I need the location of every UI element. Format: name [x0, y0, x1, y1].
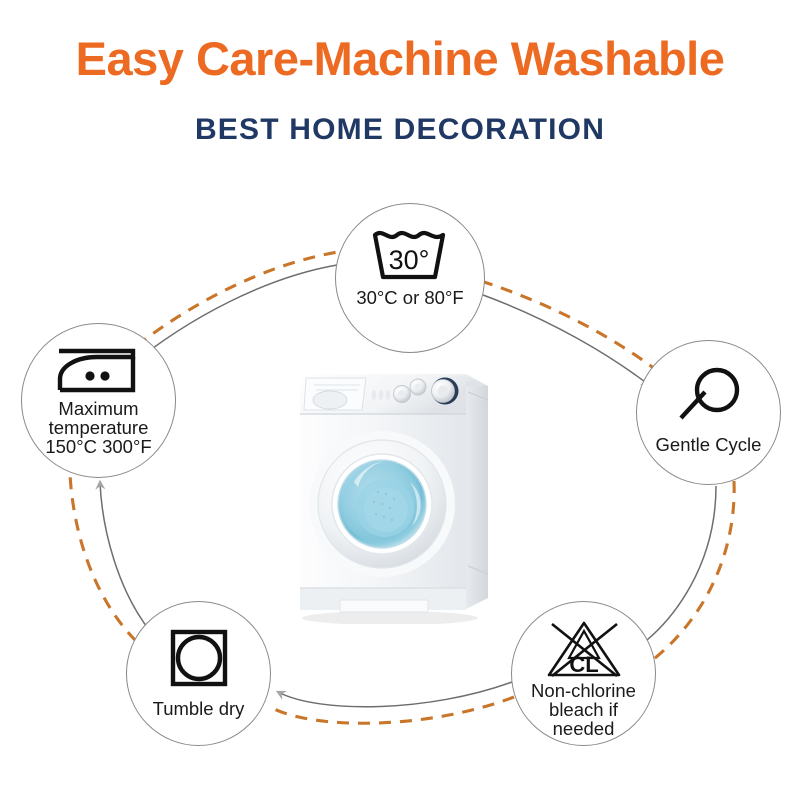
care-node-gentle-cycle[interactable]: Gentle Cycle [636, 340, 781, 485]
care-node-iron[interactable]: Maximum temperature 150°C 300°F [21, 323, 176, 478]
care-node-iron-label: Maximum temperature 150°C 300°F [45, 399, 151, 456]
connector-tumble-to-iron [70, 474, 150, 641]
gentle-cycle-icon [671, 365, 747, 427]
tumble-dry-icon [168, 628, 230, 688]
care-node-gentle-cycle-label: Gentle Cycle [656, 435, 762, 454]
page-subtitle: BEST HOME DECORATION [0, 113, 800, 147]
care-node-wash-label: 30°C or 80°F [356, 288, 463, 307]
care-node-bleach-label: Non-chlorine bleach if needed [531, 681, 636, 738]
care-node-wash[interactable]: 30° 30°C or 80°F [335, 203, 485, 353]
washing-machine-image [282, 352, 502, 624]
wash-tub-30-icon: 30° [369, 226, 451, 282]
iron-two-dots-icon [53, 346, 145, 396]
care-node-tumble-dry-label: Tumble dry [153, 699, 245, 718]
non-chlorine-bleach-icon: CL [541, 618, 627, 680]
care-node-bleach[interactable]: CL Non-chlorine bleach if needed [511, 601, 656, 746]
bleach-cl-text: CL [569, 652, 598, 677]
connector-wash-to-gentle [481, 281, 664, 385]
page-title: Easy Care-Machine Washable [0, 34, 800, 83]
care-node-tumble-dry[interactable]: Tumble dry [126, 601, 271, 746]
wash-temp-text: 30° [389, 245, 430, 275]
washing-machine-illustration [282, 352, 502, 624]
connector-bleach-to-tumble [270, 682, 514, 723]
infographic-canvas: Easy Care-Machine Washable BEST HOME DEC… [0, 0, 800, 800]
